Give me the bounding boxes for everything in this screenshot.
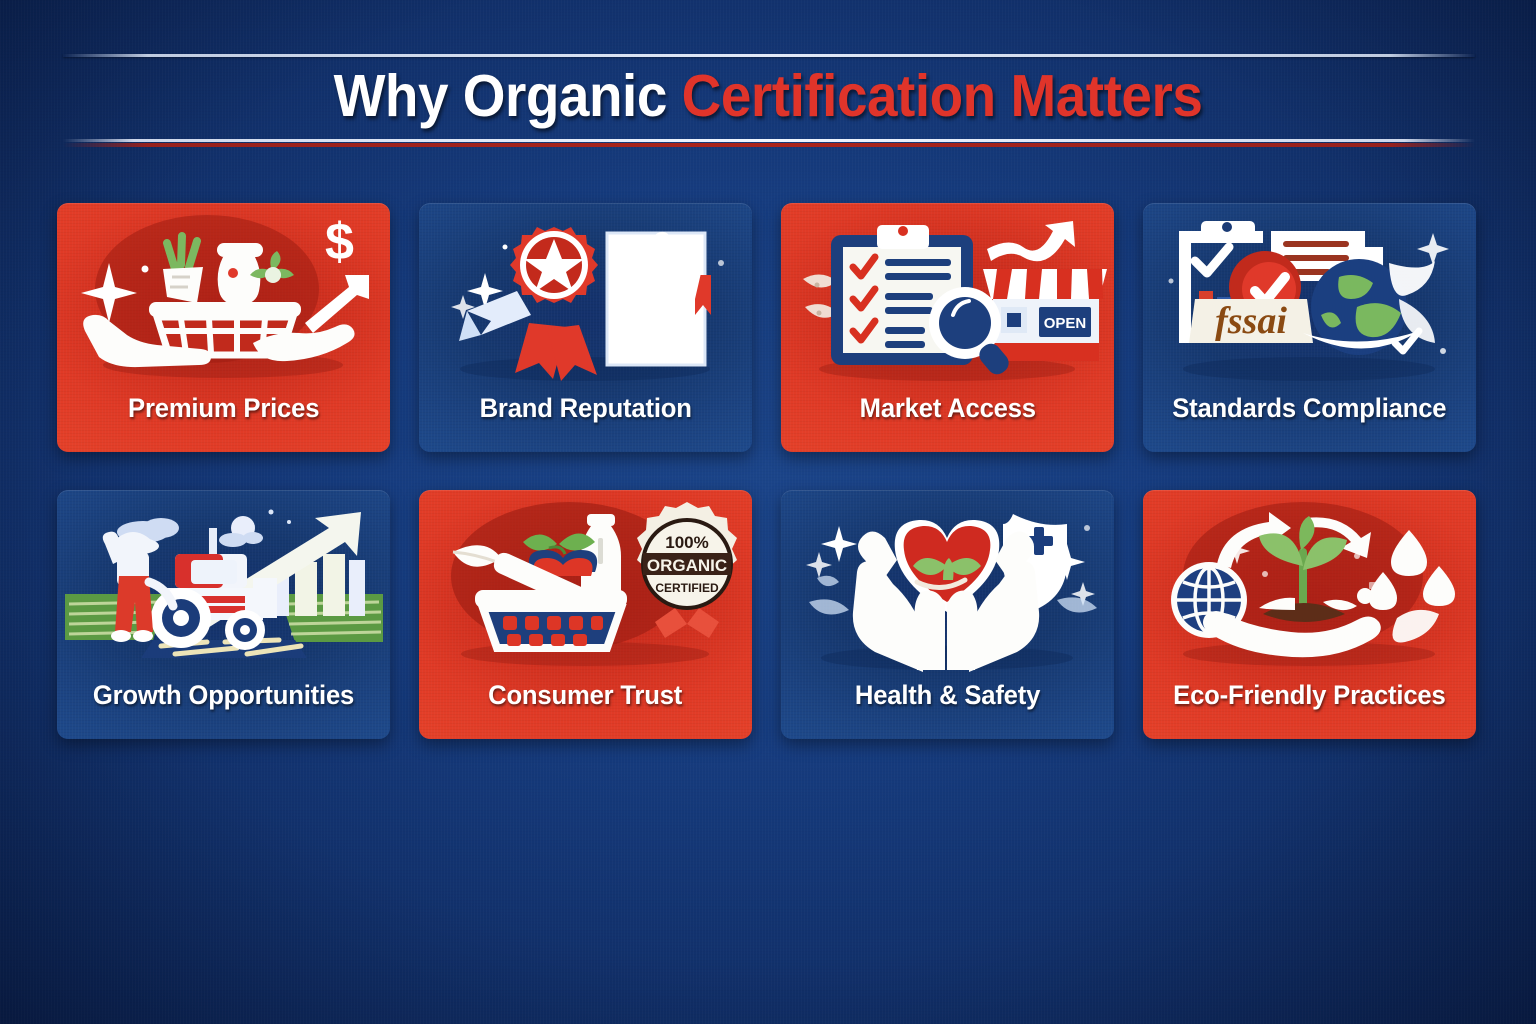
consumer-trust-artwork: 100% ORGANIC CERTIFIED [419, 490, 752, 680]
fssai-logo-icon: fssai [1189, 299, 1313, 343]
fssai-text: fssai [1215, 300, 1287, 342]
card-consumer-trust[interactable]: 100% ORGANIC CERTIFIED Consumer Trust [419, 490, 752, 739]
health-safety-artwork [781, 490, 1114, 680]
card-label: Standards Compliance [1172, 393, 1446, 423]
tractor-icon [151, 528, 277, 650]
card-label: Eco-Friendly Practices [1173, 680, 1445, 710]
card-eco-friendly-practices[interactable]: Eco-Friendly Practices [1143, 490, 1476, 739]
dollar-sign-icon: $ [325, 213, 354, 271]
page-title: Why Organic Certification Matters [54, 60, 1482, 132]
divider-bottom-red [63, 143, 1475, 147]
seal-line-2: ORGANIC [647, 556, 727, 575]
growth-opportunities-artwork [57, 490, 390, 680]
open-sign-text: OPEN [1044, 315, 1087, 332]
card-market-access[interactable]: OPEN [781, 203, 1114, 452]
title-white-part: Why Organic [334, 63, 667, 129]
storefront-icon: OPEN [983, 269, 1107, 361]
sparkle-icon [251, 510, 291, 528]
infographic-canvas: Why Organic Certification Matters [0, 0, 1536, 1024]
market-access-artwork: OPEN [781, 203, 1114, 393]
premium-prices-artwork: $ [57, 203, 390, 393]
eco-friendly-practices-artwork [1143, 490, 1476, 680]
card-brand-reputation[interactable]: Brand Reputation [419, 203, 752, 452]
svg-text:$: $ [325, 213, 354, 271]
card-label: Premium Prices [128, 393, 319, 423]
header: Why Organic Certification Matters [0, 0, 1536, 165]
standards-compliance-artwork: fssai [1143, 203, 1476, 393]
card-standards-compliance[interactable]: fssai [1143, 203, 1476, 452]
card-premium-prices[interactable]: $ [57, 203, 390, 452]
card-label: Market Access [859, 393, 1035, 423]
heart-icon [895, 520, 1000, 612]
card-label: Brand Reputation [479, 393, 691, 423]
carrot-icon [163, 236, 203, 303]
benefits-grid: $ [57, 203, 1478, 739]
up-arrow-icon [987, 221, 1075, 261]
card-health-safety[interactable]: Health & Safety [781, 490, 1114, 739]
title-red-part: Certification Matters [682, 63, 1203, 129]
divider-top [63, 54, 1475, 57]
checkmark-icon [1195, 247, 1229, 273]
bookmark-icon [459, 291, 531, 341]
seal-line-3: CERTIFIED [655, 581, 719, 595]
card-growth-opportunities[interactable]: Growth Opportunities [57, 490, 390, 739]
card-label: Health & Safety [855, 680, 1040, 710]
seal-line-1: 100% [665, 533, 708, 552]
card-label: Consumer Trust [488, 680, 682, 710]
card-label: Growth Opportunities [93, 680, 354, 710]
brand-reputation-artwork [419, 203, 752, 393]
divider-bottom [63, 139, 1475, 142]
